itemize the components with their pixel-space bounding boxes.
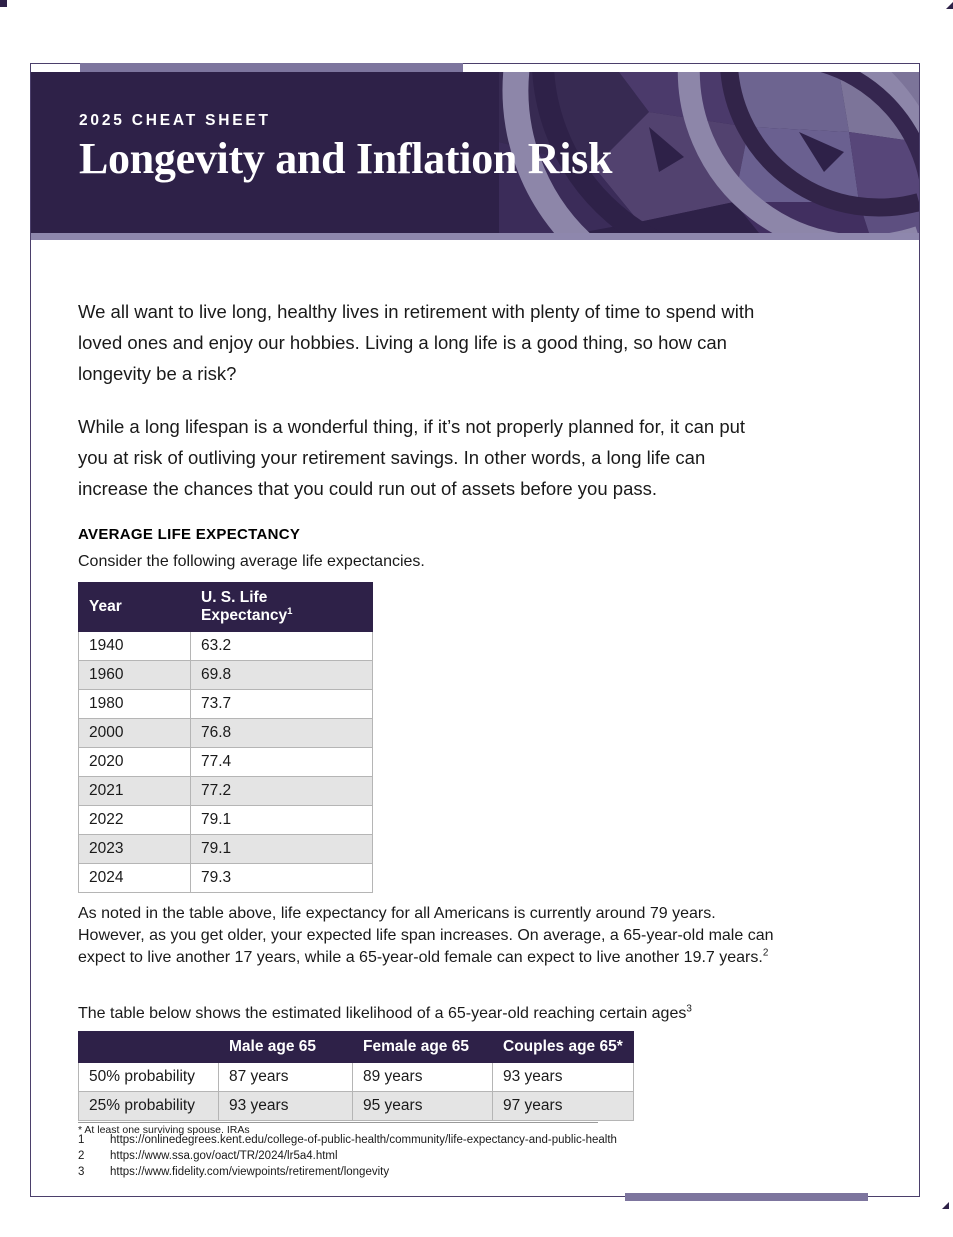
table-row: 200076.8 (79, 719, 373, 748)
cell-life-expectancy: 79.3 (191, 864, 373, 893)
table-row: 25% probability93 years95 years97 years (79, 1092, 634, 1121)
page-title: Longevity and Inflation Risk (79, 136, 612, 182)
cell-year: 2023 (79, 835, 191, 864)
footnote-item: 2https://www.ssa.gov/oact/TR/2024/lr5a4.… (78, 1150, 638, 1162)
col-header-life-expectancy-label: U. S. Life Expectancy (201, 589, 287, 624)
cell-year: 1960 (79, 661, 191, 690)
table-row: 202077.4 (79, 748, 373, 777)
section-lead-text: Consider the following average life expe… (78, 551, 858, 573)
cell-couples-age: 97 years (493, 1092, 634, 1121)
prob-table-intro: The table below shows the estimated like… (78, 1003, 858, 1025)
banner-eyebrow: 2025 CHEAT SHEET (79, 112, 612, 130)
intro-paragraph-2: While a long lifespan is a wonderful thi… (78, 411, 778, 504)
footnote-ref-2: 2 (763, 948, 769, 959)
cell-life-expectancy: 73.7 (191, 690, 373, 719)
cell-life-expectancy: 77.4 (191, 748, 373, 777)
header-banner: 2025 CHEAT SHEET Longevity and Inflation… (31, 72, 919, 233)
footnote-number: 1 (78, 1134, 110, 1146)
footnote-number: 2 (78, 1150, 110, 1162)
footnote-item: 3https://www.fidelity.com/viewpoints/ret… (78, 1166, 638, 1178)
document-page: 2025 CHEAT SHEET Longevity and Inflation… (0, 0, 953, 1237)
intro-paragraph-1: We all want to live long, healthy lives … (78, 296, 778, 389)
cell-year: 2022 (79, 806, 191, 835)
cell-probability-label: 50% probability (79, 1063, 219, 1092)
table-header-row: Year U. S. Life Expectancy1 (79, 583, 373, 632)
col-header-life-expectancy: U. S. Life Expectancy1 (191, 583, 373, 632)
header-underline-bar (31, 233, 919, 240)
cell-male-age: 93 years (219, 1092, 353, 1121)
corner-mark-bottom-right (942, 1202, 949, 1209)
col-header-female-65: Female age 65 (353, 1032, 493, 1063)
cell-year: 2000 (79, 719, 191, 748)
probability-table: Male age 65 Female age 65 Couples age 65… (78, 1031, 634, 1121)
table-row: 202479.3 (79, 864, 373, 893)
cell-probability-label: 25% probability (79, 1092, 219, 1121)
table-row: 50% probability87 years89 years93 years (79, 1063, 634, 1092)
cell-life-expectancy: 76.8 (191, 719, 373, 748)
footnote-url[interactable]: https://www.fidelity.com/viewpoints/reti… (110, 1166, 389, 1178)
col-header-male-65: Male age 65 (219, 1032, 353, 1063)
header-text-group: 2025 CHEAT SHEET Longevity and Inflation… (79, 112, 612, 182)
cell-year: 2020 (79, 748, 191, 777)
table-row: 202279.1 (79, 806, 373, 835)
document-content: We all want to live long, healthy lives … (78, 296, 858, 1136)
cell-year: 1980 (79, 690, 191, 719)
footnotes-divider (78, 1122, 598, 1123)
bottom-accent-bar (625, 1193, 868, 1201)
post-table-paragraph: As noted in the table above, life expect… (78, 903, 778, 969)
corner-mark-top-left (0, 0, 7, 7)
life-expectancy-table: Year U. S. Life Expectancy1 194063.21960… (78, 582, 373, 893)
footnote-number: 3 (78, 1166, 110, 1178)
col-header-year: Year (79, 583, 191, 632)
cell-female-age: 89 years (353, 1063, 493, 1092)
cell-year: 2024 (79, 864, 191, 893)
section-heading-life-expectancy: AVERAGE LIFE EXPECTANCY (78, 526, 858, 543)
cell-life-expectancy: 79.1 (191, 806, 373, 835)
cell-year: 2021 (79, 777, 191, 806)
footnote-item: 1https://onlinedegrees.kent.edu/college-… (78, 1134, 638, 1146)
footnote-ref-3: 3 (686, 1004, 692, 1015)
cell-year: 1940 (79, 632, 191, 661)
cell-female-age: 95 years (353, 1092, 493, 1121)
table-row: 202177.2 (79, 777, 373, 806)
table-row: 196069.8 (79, 661, 373, 690)
corner-mark-top-right (946, 2, 953, 9)
prob-table-intro-text: The table below shows the estimated like… (78, 1005, 686, 1022)
col-header-blank (79, 1032, 219, 1063)
table-header-row: Male age 65 Female age 65 Couples age 65… (79, 1032, 634, 1063)
footnote-ref-1: 1 (287, 606, 292, 617)
cell-life-expectancy: 79.1 (191, 835, 373, 864)
footnotes-section: 1https://onlinedegrees.kent.edu/college-… (78, 1122, 638, 1182)
top-accent-bar (80, 63, 463, 72)
post-table-text: As noted in the table above, life expect… (78, 905, 774, 966)
cell-life-expectancy: 63.2 (191, 632, 373, 661)
cell-couples-age: 93 years (493, 1063, 634, 1092)
cell-male-age: 87 years (219, 1063, 353, 1092)
col-header-couples-65: Couples age 65* (493, 1032, 634, 1063)
cell-life-expectancy: 69.8 (191, 661, 373, 690)
table-row: 198073.7 (79, 690, 373, 719)
footnote-url[interactable]: https://www.ssa.gov/oact/TR/2024/lr5a4.h… (110, 1150, 338, 1162)
cell-life-expectancy: 77.2 (191, 777, 373, 806)
table-row: 194063.2 (79, 632, 373, 661)
footnote-url[interactable]: https://onlinedegrees.kent.edu/college-o… (110, 1134, 617, 1146)
table-row: 202379.1 (79, 835, 373, 864)
